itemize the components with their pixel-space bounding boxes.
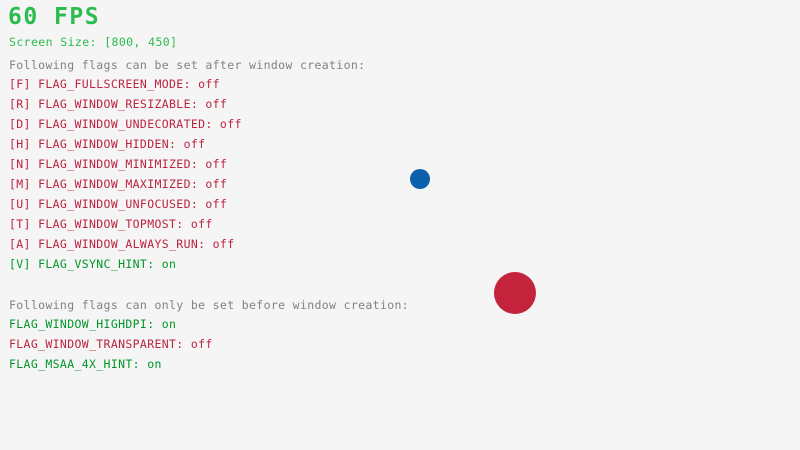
blue-ball [410, 169, 430, 189]
flag-row-window-topmost[interactable]: [T] FLAG_WINDOW_TOPMOST: off [9, 219, 429, 239]
flag-row-window-unfocused[interactable]: [U] FLAG_WINDOW_UNFOCUSED: off [9, 199, 429, 219]
flag-row-window-undecorated[interactable]: [D] FLAG_WINDOW_UNDECORATED: off [9, 119, 429, 139]
flag-row-window-highdpi: FLAG_WINDOW_HIGHDPI: on [9, 319, 429, 339]
raylib-window-flags-demo: 60 FPS Screen Size: [800, 450] Following… [0, 0, 800, 450]
after-creation-section-header: Following flags can be set after window … [9, 60, 365, 72]
flag-row-window-maximized[interactable]: [M] FLAG_WINDOW_MAXIMIZED: off [9, 179, 429, 199]
fps-counter: 60 FPS [8, 6, 100, 29]
flag-row-window-always-run[interactable]: [A] FLAG_WINDOW_ALWAYS_RUN: off [9, 239, 429, 259]
before-creation-flag-list: FLAG_WINDOW_HIGHDPI: on FLAG_WINDOW_TRAN… [9, 319, 429, 379]
red-ball [494, 272, 536, 314]
flag-row-window-transparent: FLAG_WINDOW_TRANSPARENT: off [9, 339, 429, 359]
flag-row-msaa-4x-hint: FLAG_MSAA_4X_HINT: on [9, 359, 429, 379]
flag-row-vsync-hint[interactable]: [V] FLAG_VSYNC_HINT: on [9, 259, 429, 279]
flag-row-fullscreen-mode[interactable]: [F] FLAG_FULLSCREEN_MODE: off [9, 79, 429, 99]
before-creation-section-header: Following flags can only be set before w… [9, 300, 409, 312]
screen-size-readout: Screen Size: [800, 450] [9, 37, 177, 49]
flag-row-window-resizable[interactable]: [R] FLAG_WINDOW_RESIZABLE: off [9, 99, 429, 119]
flag-row-window-hidden[interactable]: [H] FLAG_WINDOW_HIDDEN: off [9, 139, 429, 159]
flag-row-window-minimized[interactable]: [N] FLAG_WINDOW_MINIMIZED: off [9, 159, 429, 179]
after-creation-flag-list: [F] FLAG_FULLSCREEN_MODE: off [R] FLAG_W… [9, 79, 429, 279]
